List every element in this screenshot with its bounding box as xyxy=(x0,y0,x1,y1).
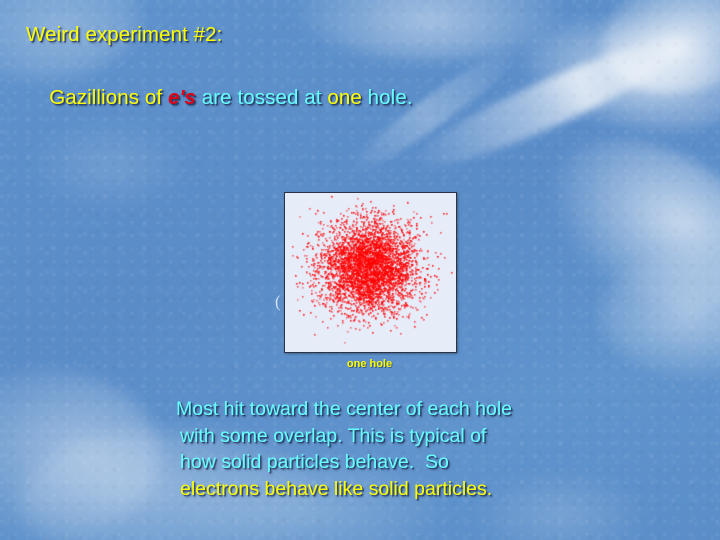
page-title: Weird experiment #2: xyxy=(26,23,222,47)
subtitle-part-2: are tossed at xyxy=(196,86,327,109)
subtitle-part-4: hole. xyxy=(362,86,413,109)
conclusion-line-4: electrons behave like solid particles. xyxy=(176,476,512,503)
slide-canvas: Weird experiment #2: Gazillions of e's a… xyxy=(0,0,720,540)
subtitle-line: Gazillions of e's are tossed at one hole… xyxy=(26,62,413,134)
plot-caption-one-hole: one hole xyxy=(284,358,455,370)
scatter-plot-box xyxy=(284,192,457,353)
subtitle-part-0: Gazillions of xyxy=(49,86,168,109)
stray-paren-glyph: ( xyxy=(275,292,281,312)
subtitle-part-electrons: e's xyxy=(168,86,196,109)
scatter-plot-canvas xyxy=(285,193,453,349)
conclusion-line-1: Most hit toward the center of each hole xyxy=(176,396,512,423)
conclusion-paragraph: Most hit toward the center of each hole … xyxy=(176,396,512,502)
conclusion-line-3: how solid particles behave. So xyxy=(176,449,512,476)
conclusion-line-2: with some overlap. This is typical of xyxy=(176,423,512,450)
subtitle-part-one: one xyxy=(327,86,362,109)
scatter-figure: ( one hole xyxy=(284,192,457,353)
